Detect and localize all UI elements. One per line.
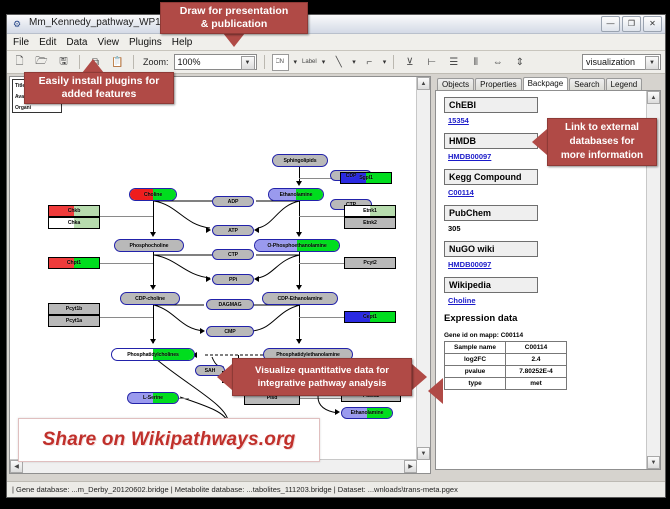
- annotation-draw-pointer-icon: [223, 33, 245, 47]
- node-cdp-ethanolamine-label: CDP-Ethanolamine: [277, 296, 322, 302]
- node-atp[interactable]: ATP: [212, 225, 254, 236]
- edge-chpt1-link: [100, 263, 153, 264]
- chevron-down-icon[interactable]: ▼: [241, 56, 255, 70]
- tab-backpage[interactable]: Backpage: [523, 77, 569, 90]
- edge-pcyt-link: [100, 317, 153, 318]
- status-bar: | Gene database: ...m_Derby_20120602.bri…: [7, 481, 665, 497]
- pathway-canvas[interactable]: Title: Availa Organi: [10, 77, 416, 459]
- datanode-dropdown-icon[interactable]: ▾: [294, 58, 298, 66]
- node-chka-label: Chka: [68, 220, 80, 226]
- node-pcyt2[interactable]: Pcyt2: [344, 257, 396, 269]
- node-ethanolamine-right-label: Ethanolamine: [351, 410, 384, 416]
- edge-cept1-link: [299, 317, 344, 318]
- line-tool-icon[interactable]: ╲: [330, 54, 347, 71]
- annotation-share: Share on Wikipathways.org: [18, 418, 320, 462]
- annotation-visualize-pointer-right-icon: [412, 364, 427, 390]
- annotation-visualize-pointer-left-icon: [217, 364, 232, 390]
- node-ethanolamine-label: Ethanolamine: [280, 192, 313, 198]
- open-file-icon[interactable]: 🗁: [33, 54, 50, 71]
- node-adp[interactable]: ADP: [212, 196, 254, 207]
- arrowhead-sphingolipids-ethanolamine: [296, 181, 302, 186]
- receptor-tool-icon[interactable]: ⌐: [361, 54, 378, 71]
- arrowhead-ope-cdpethanolamine: [296, 285, 302, 290]
- node-phosphatidylethanolamine-label: Phosphatidylethanolamine: [276, 352, 340, 358]
- title-block-line-3: Organi: [15, 103, 59, 113]
- expression-key-2: pvalue: [445, 366, 506, 378]
- node-ethanolamine[interactable]: Ethanolamine: [268, 188, 324, 201]
- paste-icon[interactable]: 📋: [109, 54, 126, 71]
- annotation-visualize: Visualize quantitative data for integrat…: [232, 358, 412, 396]
- expression-row: log2FC2.4: [445, 354, 567, 366]
- datanode-tool-icon[interactable]: ⎕N: [272, 54, 289, 71]
- node-atp-label: ATP: [228, 228, 238, 234]
- node-cept1[interactable]: Cept1: [344, 311, 396, 323]
- arrowhead-ppi-right: [254, 276, 259, 282]
- window-titlebar: ⚙ Mm_Kennedy_pathway_WP1771_45176.gpml —…: [7, 15, 665, 34]
- node-sah-label: SAH: [205, 368, 216, 374]
- db-wikipedia-header: Wikipedia: [444, 277, 538, 293]
- annotation-links-line3: more information: [561, 149, 643, 163]
- save-file-icon[interactable]: 🖫: [55, 54, 72, 71]
- arrowhead-atp: [206, 227, 211, 233]
- edge-ethanolamine-cdp-ctp: [254, 195, 304, 235]
- arrowhead-cdpethanolamine-pe: [296, 339, 302, 344]
- node-sphingolipids[interactable]: Sphingolipids: [272, 154, 328, 167]
- node-cdp-label: CDP: [346, 173, 357, 179]
- annotation-plugins-line1: Easily install plugins for: [39, 75, 160, 88]
- expression-data-table: Sample nameC00114log2FC2.4pvalue7.80252E…: [444, 341, 567, 390]
- annotation-links-pointer-icon: [532, 129, 547, 155]
- menu-item-data[interactable]: Data: [66, 37, 87, 48]
- node-phosphatidylcholines-label: Phosphatidylcholines: [127, 352, 179, 358]
- edge-etnk-link: [299, 216, 344, 217]
- align-left-icon[interactable]: ⊢: [423, 54, 440, 71]
- tab-search[interactable]: Search: [569, 78, 604, 90]
- annotation-plugins: Easily install plugins for added feature…: [24, 72, 174, 104]
- distribute-horizontal-icon[interactable]: ⦀: [467, 54, 484, 71]
- expression-key-0: Sample name: [445, 342, 506, 354]
- line-dropdown-icon[interactable]: ▾: [352, 58, 356, 66]
- db-kegg-compound-header: Kegg Compound: [444, 169, 538, 185]
- node-dagmag-label: DAGMAG: [218, 302, 241, 308]
- node-l-serine-left[interactable]: L-Serine: [127, 392, 179, 404]
- expression-value-3: met: [506, 378, 567, 390]
- node-adp-label: ADP: [228, 199, 239, 205]
- arrowhead-phosphocholine-cdpcholine: [150, 285, 156, 290]
- menu-item-plugins[interactable]: Plugins: [129, 37, 162, 48]
- db-kegg-compound-value[interactable]: C00114: [448, 188, 648, 197]
- menu-item-edit[interactable]: Edit: [39, 37, 56, 48]
- node-sgpl1-label: Sgpl1: [359, 175, 373, 181]
- zoom-combobox[interactable]: 100% ▼: [174, 54, 257, 70]
- expression-key-1: log2FC: [445, 354, 506, 366]
- toolbar-separator-2: [133, 55, 134, 69]
- scroll-right-icon[interactable]: ▶: [404, 460, 417, 473]
- node-etnk2[interactable]: Etnk2: [344, 217, 396, 229]
- minimize-button[interactable]: —: [601, 16, 620, 32]
- arrowhead-ethanolamine-right: [335, 409, 340, 415]
- node-l-serine-left-label: L-Serine: [143, 395, 163, 401]
- node-etnk2-label: Etnk2: [363, 220, 377, 226]
- node-chka[interactable]: Chka: [48, 217, 100, 229]
- expression-row: pvalue7.80252E-4: [445, 366, 567, 378]
- gene-id-label: Gene id on mapp: C00114: [444, 332, 648, 339]
- tab-objects[interactable]: Objects: [437, 78, 474, 90]
- chevron-down-icon-visualization[interactable]: ▼: [645, 56, 659, 70]
- common-width-icon[interactable]: ⇔: [489, 54, 506, 71]
- zoom-value: 100%: [178, 57, 201, 67]
- node-pcyt2-label: Pcyt2: [363, 260, 376, 266]
- node-choline[interactable]: Choline: [129, 188, 177, 201]
- node-ctp-right-label: CTP: [346, 202, 356, 208]
- pathway-canvas-container[interactable]: Title: Availa Organi: [9, 76, 431, 474]
- annotation-expression-pointer-icon: [428, 378, 443, 404]
- arrowhead-ppi-left: [206, 276, 211, 282]
- annotation-draw: Draw for presentation & publication: [160, 2, 308, 34]
- node-chkb[interactable]: Chkb: [48, 205, 100, 217]
- node-pcyt1a[interactable]: Pcyt1a: [48, 315, 100, 327]
- node-o-phosphoethanolamine-label: O-Phosphoethanolamine: [267, 243, 326, 249]
- db-nugo-wiki-header: NuGO wiki: [444, 241, 538, 257]
- node-chpt1[interactable]: Chpt1: [48, 257, 100, 269]
- backpage-scroll-up-icon[interactable]: ▲: [647, 91, 660, 104]
- annotation-visualize-line1: Visualize quantitative data for: [255, 364, 389, 377]
- db-wikipedia-value[interactable]: Choline: [448, 296, 648, 305]
- node-phosphocholine[interactable]: Phosphocholine: [114, 239, 184, 252]
- receptor-dropdown-icon[interactable]: ▾: [383, 58, 387, 66]
- main-toolbar: 🗋 🗁 🖫 ⧉ 📋 Zoom: 100% ▼ ⎕N ▾ Label ▾ ╲ ▾ …: [7, 51, 665, 74]
- tab-properties[interactable]: Properties: [475, 78, 521, 90]
- expression-key-3: type: [445, 378, 506, 390]
- node-cmp[interactable]: CMP: [206, 326, 254, 337]
- pathvisio-icon: ⚙: [13, 18, 25, 30]
- node-cdp-choline[interactable]: CDP-choline: [120, 292, 180, 305]
- annotation-links: Link to external databases for more info…: [547, 118, 657, 166]
- node-chkb-label: Chkb: [68, 208, 81, 214]
- common-height-icon[interactable]: ⇕: [511, 54, 528, 71]
- new-file-icon[interactable]: 🗋: [11, 54, 28, 71]
- tab-legend[interactable]: Legend: [606, 78, 643, 90]
- distribute-vertical-icon[interactable]: ☰: [445, 54, 462, 71]
- visualization-value: visualization: [586, 57, 635, 67]
- node-sphingolipids-label: Sphingolipids: [284, 158, 317, 164]
- node-ppi[interactable]: PPi: [212, 274, 254, 285]
- node-ctp-label: CTP: [228, 252, 238, 258]
- annotation-plugins-pointer-icon: [82, 59, 104, 73]
- annotation-plugins-line2: added features: [62, 88, 137, 101]
- arrowhead-cmp-left: [200, 328, 205, 334]
- scroll-down-icon[interactable]: ▼: [417, 447, 430, 460]
- edge-ope-ctp-ppi: [254, 247, 304, 285]
- menu-item-file[interactable]: File: [13, 37, 29, 48]
- menu-item-help[interactable]: Help: [172, 37, 193, 48]
- arrowhead-ctp-right: [254, 227, 259, 233]
- node-cmp-label: CMP: [224, 329, 235, 335]
- arrowhead-cdpcholine-pc: [150, 339, 156, 344]
- db-hmdb-header: HMDB: [444, 133, 538, 149]
- expression-value-0: C00114: [506, 342, 567, 354]
- side-panel-tabs: ObjectsPropertiesBackpageSearchLegend: [433, 76, 642, 90]
- annotation-draw-line2: & publication: [201, 18, 268, 31]
- edge-pcyt2-link: [299, 263, 344, 264]
- annotation-draw-line1: Draw for presentation: [180, 5, 289, 18]
- node-ppi-label: PPi: [229, 277, 237, 283]
- node-etnk1-label: Etnk1: [363, 208, 377, 214]
- align-top-icon[interactable]: ⊻: [401, 54, 418, 71]
- status-bar-text: | Gene database: ...m_Derby_20120602.bri…: [7, 485, 458, 494]
- expression-value-1: 2.4: [506, 354, 567, 366]
- node-cdp-ethanolamine[interactable]: CDP-Ethanolamine: [262, 292, 338, 305]
- db-pubchem-header: PubChem: [444, 205, 538, 221]
- node-ctp[interactable]: CTP: [212, 249, 254, 260]
- db-pubchem-value: 305: [448, 224, 648, 233]
- node-chpt1-label: Chpt1: [67, 260, 81, 266]
- node-phosphatidylcholines[interactable]: Phosphatidylcholines: [111, 348, 195, 361]
- label-tool-label[interactable]: Label: [302, 59, 317, 65]
- db-nugo-wiki-value[interactable]: HMDB00097: [448, 260, 648, 269]
- screenshot-root: ⚙ Mm_Kennedy_pathway_WP1771_45176.gpml —…: [0, 0, 670, 509]
- annotation-share-text: Share on Wikipathways.org: [43, 429, 296, 451]
- node-pcyt1a-label: Pcyt1a: [66, 318, 82, 324]
- expression-row: typemet: [445, 378, 567, 390]
- edge-lserine-link: [179, 398, 189, 399]
- annotation-visualize-line2: integrative pathway analysis: [258, 377, 387, 390]
- node-cdp-choline-label: CDP-choline: [135, 296, 165, 302]
- node-cept1-label: Cept1: [363, 314, 377, 320]
- zoom-label: Zoom:: [143, 57, 169, 67]
- backpage-scroll-down-icon[interactable]: ▼: [647, 456, 660, 469]
- menu-bar: File Edit Data View Plugins Help: [7, 34, 665, 51]
- expression-data-heading: Expression data: [444, 313, 648, 324]
- node-ethanolamine-right[interactable]: Ethanolamine: [341, 407, 393, 419]
- db-chebi-header: ChEBI: [444, 97, 538, 113]
- expression-value-2: 7.80252E-4: [506, 366, 567, 378]
- node-pcyt1b[interactable]: Pcyt1b: [48, 303, 100, 315]
- node-o-phosphoethanolamine[interactable]: O-Phosphoethanolamine: [254, 239, 340, 252]
- node-choline-label: Choline: [144, 192, 162, 198]
- edge-chk-choline: [100, 216, 153, 217]
- maximize-button[interactable]: ❐: [622, 16, 641, 32]
- label-dropdown-icon[interactable]: ▾: [322, 58, 326, 66]
- toolbar-separator-1: [79, 55, 80, 69]
- close-button[interactable]: ✕: [643, 16, 662, 32]
- annotation-links-line2: databases for: [569, 135, 634, 149]
- node-pcyt1b-label: Pcyt1b: [66, 306, 82, 312]
- toolbar-separator-4: [393, 55, 394, 69]
- visualization-combobox[interactable]: visualization ▼: [582, 54, 661, 70]
- node-phosphocholine-label: Phosphocholine: [130, 243, 169, 249]
- annotation-links-line1: Link to external: [565, 121, 639, 135]
- menu-item-view[interactable]: View: [97, 37, 119, 48]
- node-dagmag[interactable]: DAGMAG: [206, 299, 254, 310]
- scroll-up-icon[interactable]: ▲: [417, 77, 430, 90]
- toolbar-separator-3: [264, 55, 265, 69]
- expression-row: Sample nameC00114: [445, 342, 567, 354]
